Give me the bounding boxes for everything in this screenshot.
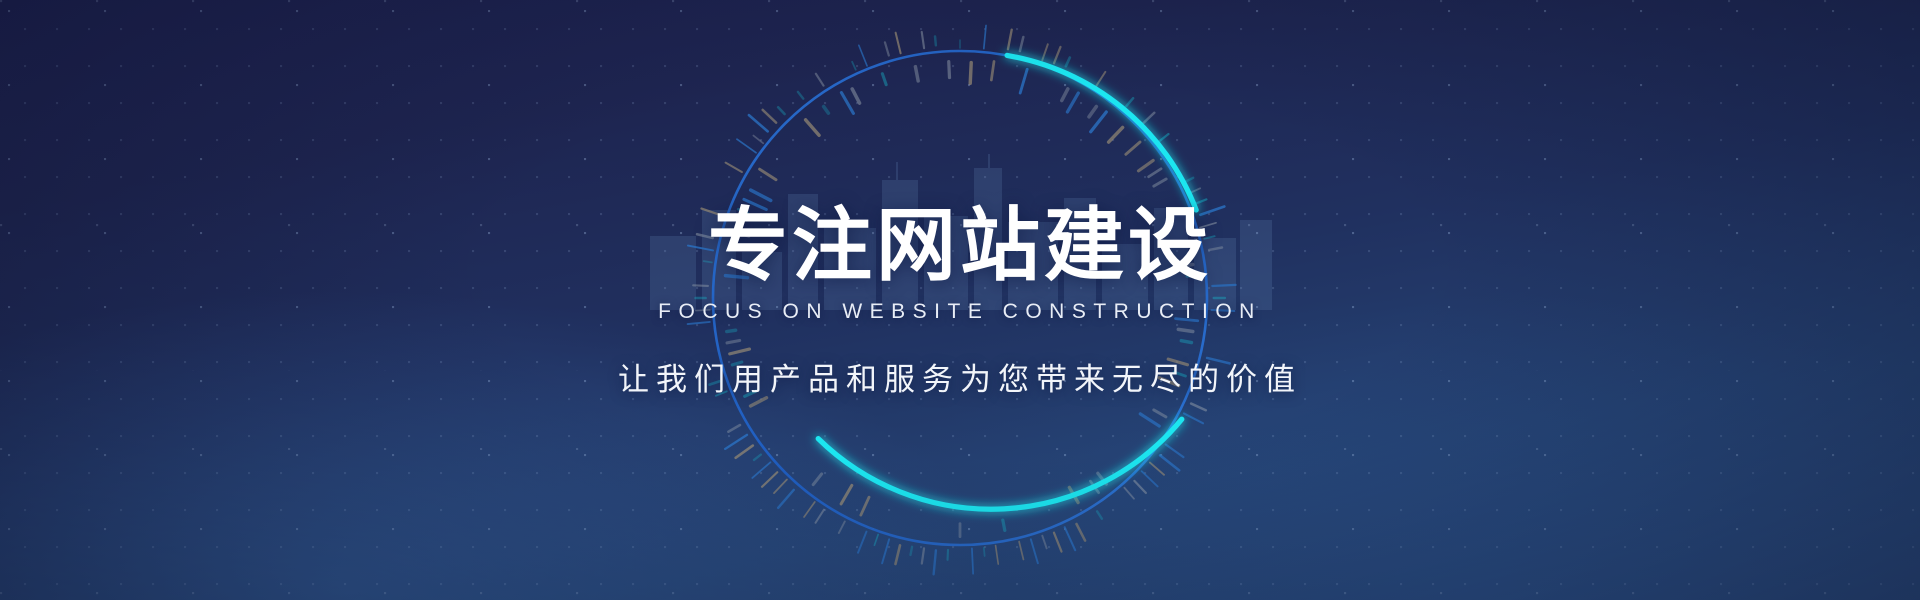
page-title: 专注网站建设 — [708, 202, 1212, 290]
banner-content: 专注网站建设 FOCUS ON WEBSITE CONSTRUCTION 让我们… — [0, 0, 1920, 600]
banner-subtitle: FOCUS ON WEBSITE CONSTRUCTION — [658, 300, 1262, 324]
hero-banner: 专注网站建设 FOCUS ON WEBSITE CONSTRUCTION 让我们… — [0, 0, 1920, 600]
banner-tagline: 让我们用产品和服务为您带来无尽的价值 — [618, 354, 1302, 399]
